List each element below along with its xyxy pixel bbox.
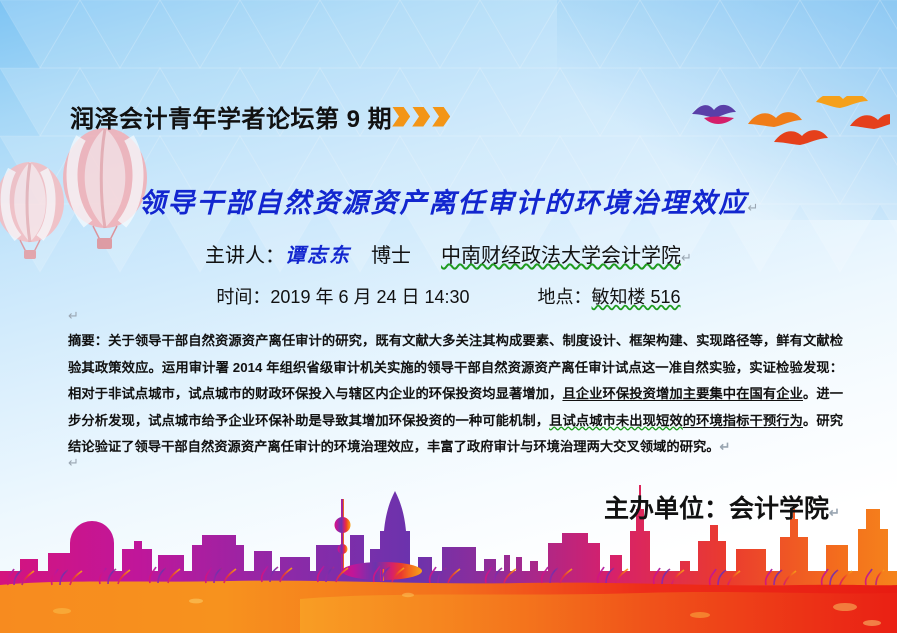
time-label: 时间： <box>216 287 270 307</box>
time-value: 2019 年 6 月 24 日 14:30 <box>270 287 469 307</box>
return-mark: ↵ <box>681 250 692 265</box>
chevron-group <box>390 107 450 127</box>
organizer-line: 主办单位：会计学院↵ <box>604 489 840 525</box>
speaker-name: 谭志东 <box>285 243 351 267</box>
return-mark: ↵ <box>748 200 759 215</box>
chevron-right-icon <box>412 107 430 127</box>
chevron-right-icon <box>432 107 450 127</box>
series-header: 润泽会计青年学者论坛第 9 期 <box>70 99 450 134</box>
page-title-text: 领导干部自然资源资产离任审计的环境治理效应 <box>139 188 748 219</box>
place-value: 敏知楼 516 <box>592 287 681 307</box>
speaker-affiliation: 中南财经政法大学会计学院 <box>441 245 681 267</box>
speaker-degree: 博士 <box>371 245 411 267</box>
ground-overlay <box>300 592 897 633</box>
abstract-underline-2: 且试点城市未出现短效 <box>549 413 683 428</box>
abstract-label: 摘要： <box>68 333 108 348</box>
return-mark: ↵ <box>829 505 840 520</box>
speaker-line: 主讲人：谭志东博士中南财经政法大学会计学院↵ <box>0 239 897 268</box>
abstract-underline-1: 且企业环保投资增加主要集中在国有企业 <box>562 386 803 401</box>
place-label: 地点： <box>538 287 592 307</box>
return-mark: ↵ <box>68 455 79 471</box>
return-mark: ↵ <box>68 308 79 324</box>
abstract-paragraph: 摘要：关于领导干部自然资源资产离任审计的研究，既有文献大多关注其构成要素、制度设… <box>68 328 843 461</box>
abstract-underline-2b: 的环境指标干预行为 <box>683 413 803 428</box>
organizer-text: 主办单位：会计学院 <box>604 495 829 523</box>
chevron-right-icon <box>392 107 410 127</box>
speaker-label: 主讲人： <box>205 245 285 267</box>
return-mark: ↵ <box>720 439 731 454</box>
event-meta: 时间：2019 年 6 月 24 日 14:30地点：敏知楼 516 <box>0 283 897 309</box>
series-label: 润泽会计青年学者论坛第 9 期 <box>70 99 392 134</box>
page-title: 领导干部自然资源资产离任审计的环境治理效应↵ <box>0 181 897 220</box>
seminar-poster: 润泽会计青年学者论坛第 9 期 领导干部自然资源资产离任审计的环境治理效应↵ 主… <box>0 0 897 633</box>
